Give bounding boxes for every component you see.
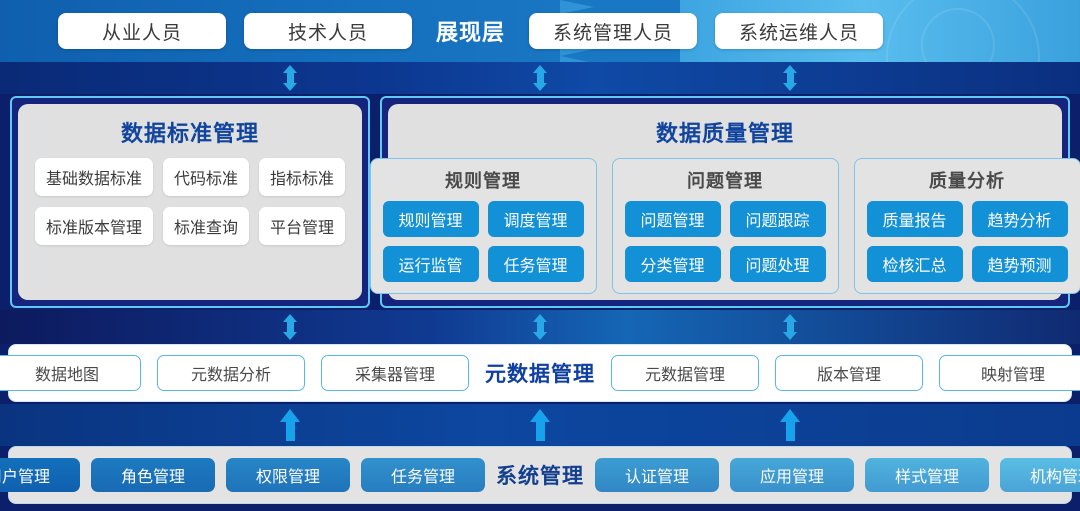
arrow-up-icon: [530, 409, 550, 441]
double-arrow-icon: [783, 314, 797, 340]
metadata-item[interactable]: 元数据分析: [157, 355, 305, 391]
quality-subcard: 质量分析质量报告趋势分析检核汇总趋势预测: [854, 158, 1080, 294]
metadata-item[interactable]: 数据地图: [0, 355, 141, 391]
standards-item[interactable]: 平台管理: [259, 207, 345, 245]
double-arrow-icon: [283, 65, 297, 91]
metadata-right-group: 元数据管理版本管理映射管理: [611, 355, 1080, 391]
panel-data-standard-management: 数据标准管理 基础数据标准代码标准指标标准标准版本管理标准查询平台管理: [10, 96, 370, 308]
panel-title-quality: 数据质量管理: [402, 116, 1048, 148]
double-arrow-icon: [533, 65, 547, 91]
system-item-button[interactable]: 任务管理: [361, 458, 485, 492]
row-metadata-management: 数据地图元数据分析采集器管理 元数据管理 元数据管理版本管理映射管理: [8, 344, 1072, 402]
quality-item-button[interactable]: 质量报告: [867, 201, 963, 237]
system-item-button[interactable]: 角色管理: [91, 458, 215, 492]
metadata-item[interactable]: 采集器管理: [321, 355, 469, 391]
metadata-item[interactable]: 映射管理: [939, 355, 1080, 391]
connector-strip-bottom: [0, 404, 1080, 446]
system-item-button[interactable]: 认证管理: [595, 458, 719, 492]
standards-item[interactable]: 指标标准: [259, 158, 345, 196]
system-item-button[interactable]: 权限管理: [226, 458, 350, 492]
quality-subcard-title: 质量分析: [867, 167, 1068, 193]
layer-title-presentation: 展现层: [430, 15, 511, 47]
quality-subcard-group: 规则管理规则管理调度管理运行监管任务管理问题管理问题管理问题跟踪分类管理问题处理…: [402, 158, 1048, 294]
standards-item[interactable]: 标准查询: [163, 207, 249, 245]
standards-row: 基础数据标准代码标准指标标准: [35, 158, 345, 196]
quality-item-button[interactable]: 调度管理: [488, 201, 584, 237]
role-chip-2[interactable]: 系统管理人员: [529, 13, 697, 49]
double-arrow-icon: [283, 314, 297, 340]
quality-button-row: 问题管理问题跟踪: [625, 201, 826, 237]
quality-item-button[interactable]: 趋势预测: [972, 246, 1068, 282]
standards-item[interactable]: 基础数据标准: [35, 158, 153, 196]
double-arrow-icon: [533, 314, 547, 340]
standards-item-grid: 基础数据标准代码标准指标标准标准版本管理标准查询平台管理: [32, 158, 348, 245]
panel-title-standards: 数据标准管理: [32, 116, 348, 148]
quality-item-button[interactable]: 检核汇总: [867, 246, 963, 282]
quality-button-row: 规则管理调度管理: [383, 201, 584, 237]
quality-subcard-title: 问题管理: [625, 167, 826, 193]
arrow-up-icon: [780, 409, 800, 441]
standards-item[interactable]: 代码标准: [163, 158, 249, 196]
connector-strip-middle: [0, 310, 1080, 344]
quality-item-button[interactable]: 分类管理: [625, 246, 721, 282]
standards-row: 标准版本管理标准查询平台管理: [35, 207, 345, 245]
quality-item-button[interactable]: 问题跟踪: [730, 201, 826, 237]
metadata-item[interactable]: 版本管理: [775, 355, 923, 391]
metadata-left-group: 数据地图元数据分析采集器管理: [0, 355, 469, 391]
quality-subcard: 问题管理问题管理问题跟踪分类管理问题处理: [612, 158, 839, 294]
quality-button-row: 检核汇总趋势预测: [867, 246, 1068, 282]
quality-item-button[interactable]: 规则管理: [383, 201, 479, 237]
role-chip-1[interactable]: 技术人员: [244, 13, 412, 49]
quality-subcard: 规则管理规则管理调度管理运行监管任务管理: [370, 158, 597, 294]
system-left-group: 用户管理角色管理权限管理任务管理: [0, 458, 485, 492]
architecture-diagram: 从业人员 技术人员 展现层 系统管理人员 系统运维人员 数据标准管理 基础数据标…: [0, 0, 1080, 511]
row-system-management: 用户管理角色管理权限管理任务管理 系统管理 认证管理应用管理样式管理机构管理: [8, 446, 1072, 504]
quality-item-button[interactable]: 问题管理: [625, 201, 721, 237]
quality-button-row: 质量报告趋势分析: [867, 201, 1068, 237]
double-arrow-icon: [783, 65, 797, 91]
layer-title-system: 系统管理: [496, 460, 584, 490]
layer-title-metadata: 元数据管理: [485, 358, 595, 388]
system-item-button[interactable]: 用户管理: [0, 458, 80, 492]
system-right-group: 认证管理应用管理样式管理机构管理: [595, 458, 1080, 492]
system-item-button[interactable]: 应用管理: [730, 458, 854, 492]
system-item-button[interactable]: 机构管理: [1000, 458, 1080, 492]
quality-item-button[interactable]: 趋势分析: [972, 201, 1068, 237]
quality-subcard-title: 规则管理: [383, 167, 584, 193]
system-item-button[interactable]: 样式管理: [865, 458, 989, 492]
panel-data-quality-management: 数据质量管理 规则管理规则管理调度管理运行监管任务管理问题管理问题管理问题跟踪分…: [380, 96, 1070, 308]
role-chip-3[interactable]: 系统运维人员: [715, 13, 883, 49]
presentation-layer-header: 从业人员 技术人员 展现层 系统管理人员 系统运维人员: [0, 0, 1080, 62]
quality-item-button[interactable]: 问题处理: [730, 246, 826, 282]
connector-strip-top: [0, 62, 1080, 94]
arrow-up-icon: [280, 409, 300, 441]
role-chip-0[interactable]: 从业人员: [58, 13, 226, 49]
quality-button-row: 分类管理问题处理: [625, 246, 826, 282]
quality-item-button[interactable]: 任务管理: [488, 246, 584, 282]
quality-button-row: 运行监管任务管理: [383, 246, 584, 282]
quality-item-button[interactable]: 运行监管: [383, 246, 479, 282]
standards-item[interactable]: 标准版本管理: [35, 207, 153, 245]
metadata-item[interactable]: 元数据管理: [611, 355, 759, 391]
